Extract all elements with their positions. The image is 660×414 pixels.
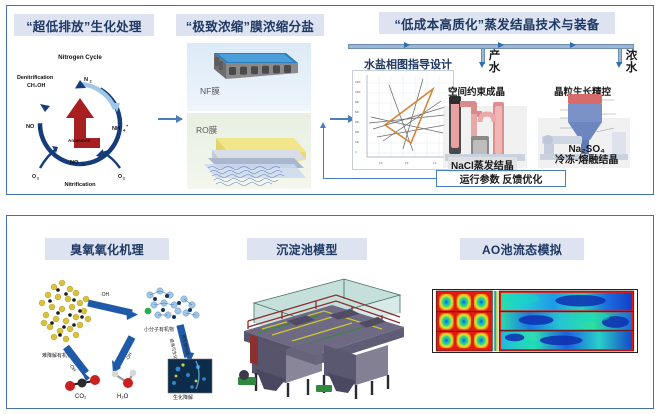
svg-text:2: 2 [90,80,92,84]
svg-text:H₂O: H₂O [117,394,129,400]
svg-text:100: 100 [355,141,360,144]
feedback-line-vertical [323,128,324,178]
svg-text:Denitrification: Denitrification [17,75,53,81]
sedimentation-tank-3d-model [232,265,408,400]
svg-text:N: N [84,77,88,83]
svg-text:400: 400 [355,121,360,124]
svg-text:O: O [118,174,122,180]
slide-root: “超低排放”生化处理 “极致浓缩”膜浓缩分盐 “低成本高质化”蒸发结晶技术与装备… [0,0,660,414]
svg-text:O: O [32,174,36,180]
svg-text:2: 2 [123,177,125,181]
ozone-oxidation-diagram: 难降解有机物 ·OH [28,265,220,400]
svg-text:3: 3 [38,127,40,131]
svg-text:1000: 1000 [355,91,361,94]
svg-text:小分子有机物: 小分子有机物 [144,326,174,333]
svg-text:+: + [126,124,129,128]
feedback-optimization-box: 运行参数 反馈优化 [436,170,566,187]
pipe-flow-arrow-1 [404,42,410,48]
stage-title-crystallization: “低成本高质化”蒸发结晶技术与装备 [379,12,615,34]
na2so4-crystallization-caption: Na₂SO₄ 冷冻-熔融结晶 [552,144,621,166]
svg-text:·OH: ·OH [100,292,110,298]
svg-text:生化降解: 生化降解 [173,394,193,400]
svg-text:Anammox: Anammox [68,138,91,143]
ao-tank-cfd-simulation: Velocity Contour 1 0.0300.0270.0240.0210… [420,265,640,400]
stage-title-membrane: “极致浓缩”膜浓缩分盐 [176,14,324,36]
svg-text:800: 800 [355,101,360,104]
flow-arrow-stage1-to-stage2 [158,118,182,120]
feedback-arrow [320,122,326,128]
cfd-contour-plot [432,289,638,353]
product-water-label: 产水 [488,50,501,74]
nf-membrane-label: NF膜 [200,85,220,97]
nf-membrane-illustration [198,47,298,81]
section-title-ao-cfd: AO池流态模拟 [460,238,584,260]
svg-text:4: 4 [123,129,126,133]
main-distribution-pipe [348,44,634,49]
svg-text:600: 600 [355,111,360,114]
stage-title-biochemical: “超低排放”生化处理 [14,14,154,36]
svg-text:200: 200 [355,131,360,134]
svg-text:-: - [41,122,43,126]
feedback-line-horizontal [323,178,436,179]
svg-text:CO₂: CO₂ [75,394,87,400]
pipe-down-arrow-1 [479,62,485,68]
svg-text:2: 2 [82,163,84,167]
svg-text:NO: NO [70,160,79,166]
svg-text:Nitrogen Cycle: Nitrogen Cycle [58,54,102,61]
pipe-down-arrow-2 [616,62,622,68]
concentrated-water-label: 浓水 [625,50,638,74]
crystallization-process-diagram: 产水 浓水 水盐相图指导设计 [348,40,634,190]
svg-text:CH₃OH: CH₃OH [27,83,45,89]
water-salt-phase-diagram: 12001000 800600 400200 1000 0.00.51.0 [352,70,454,170]
nitrogen-cycle-diagram: Nitrogen Cycle N 2 NH 4 + NO 3 - [14,46,146,188]
na2so4-formula: Na₂SO₄ [568,144,604,155]
ro-membrane-illustration [194,136,306,188]
feedback-label: 运行参数 反馈优化 [460,171,543,186]
svg-text:NH: NH [112,126,120,132]
pipe-flow-arrow-3 [570,42,576,48]
na2so4-process: 冷冻-熔融结晶 [555,155,618,166]
svg-text:2: 2 [37,177,39,181]
svg-text:Nitrification: Nitrification [64,182,96,188]
ro-membrane-label: RO膜 [196,124,217,136]
svg-text:1200: 1200 [355,81,361,84]
pipe-flow-arrow-2 [498,42,504,48]
svg-text:NO: NO [26,124,35,130]
section-title-ozone: 臭氧氧化机理 [45,238,169,260]
section-title-sedimentation: 沉淀池模型 [247,238,367,260]
